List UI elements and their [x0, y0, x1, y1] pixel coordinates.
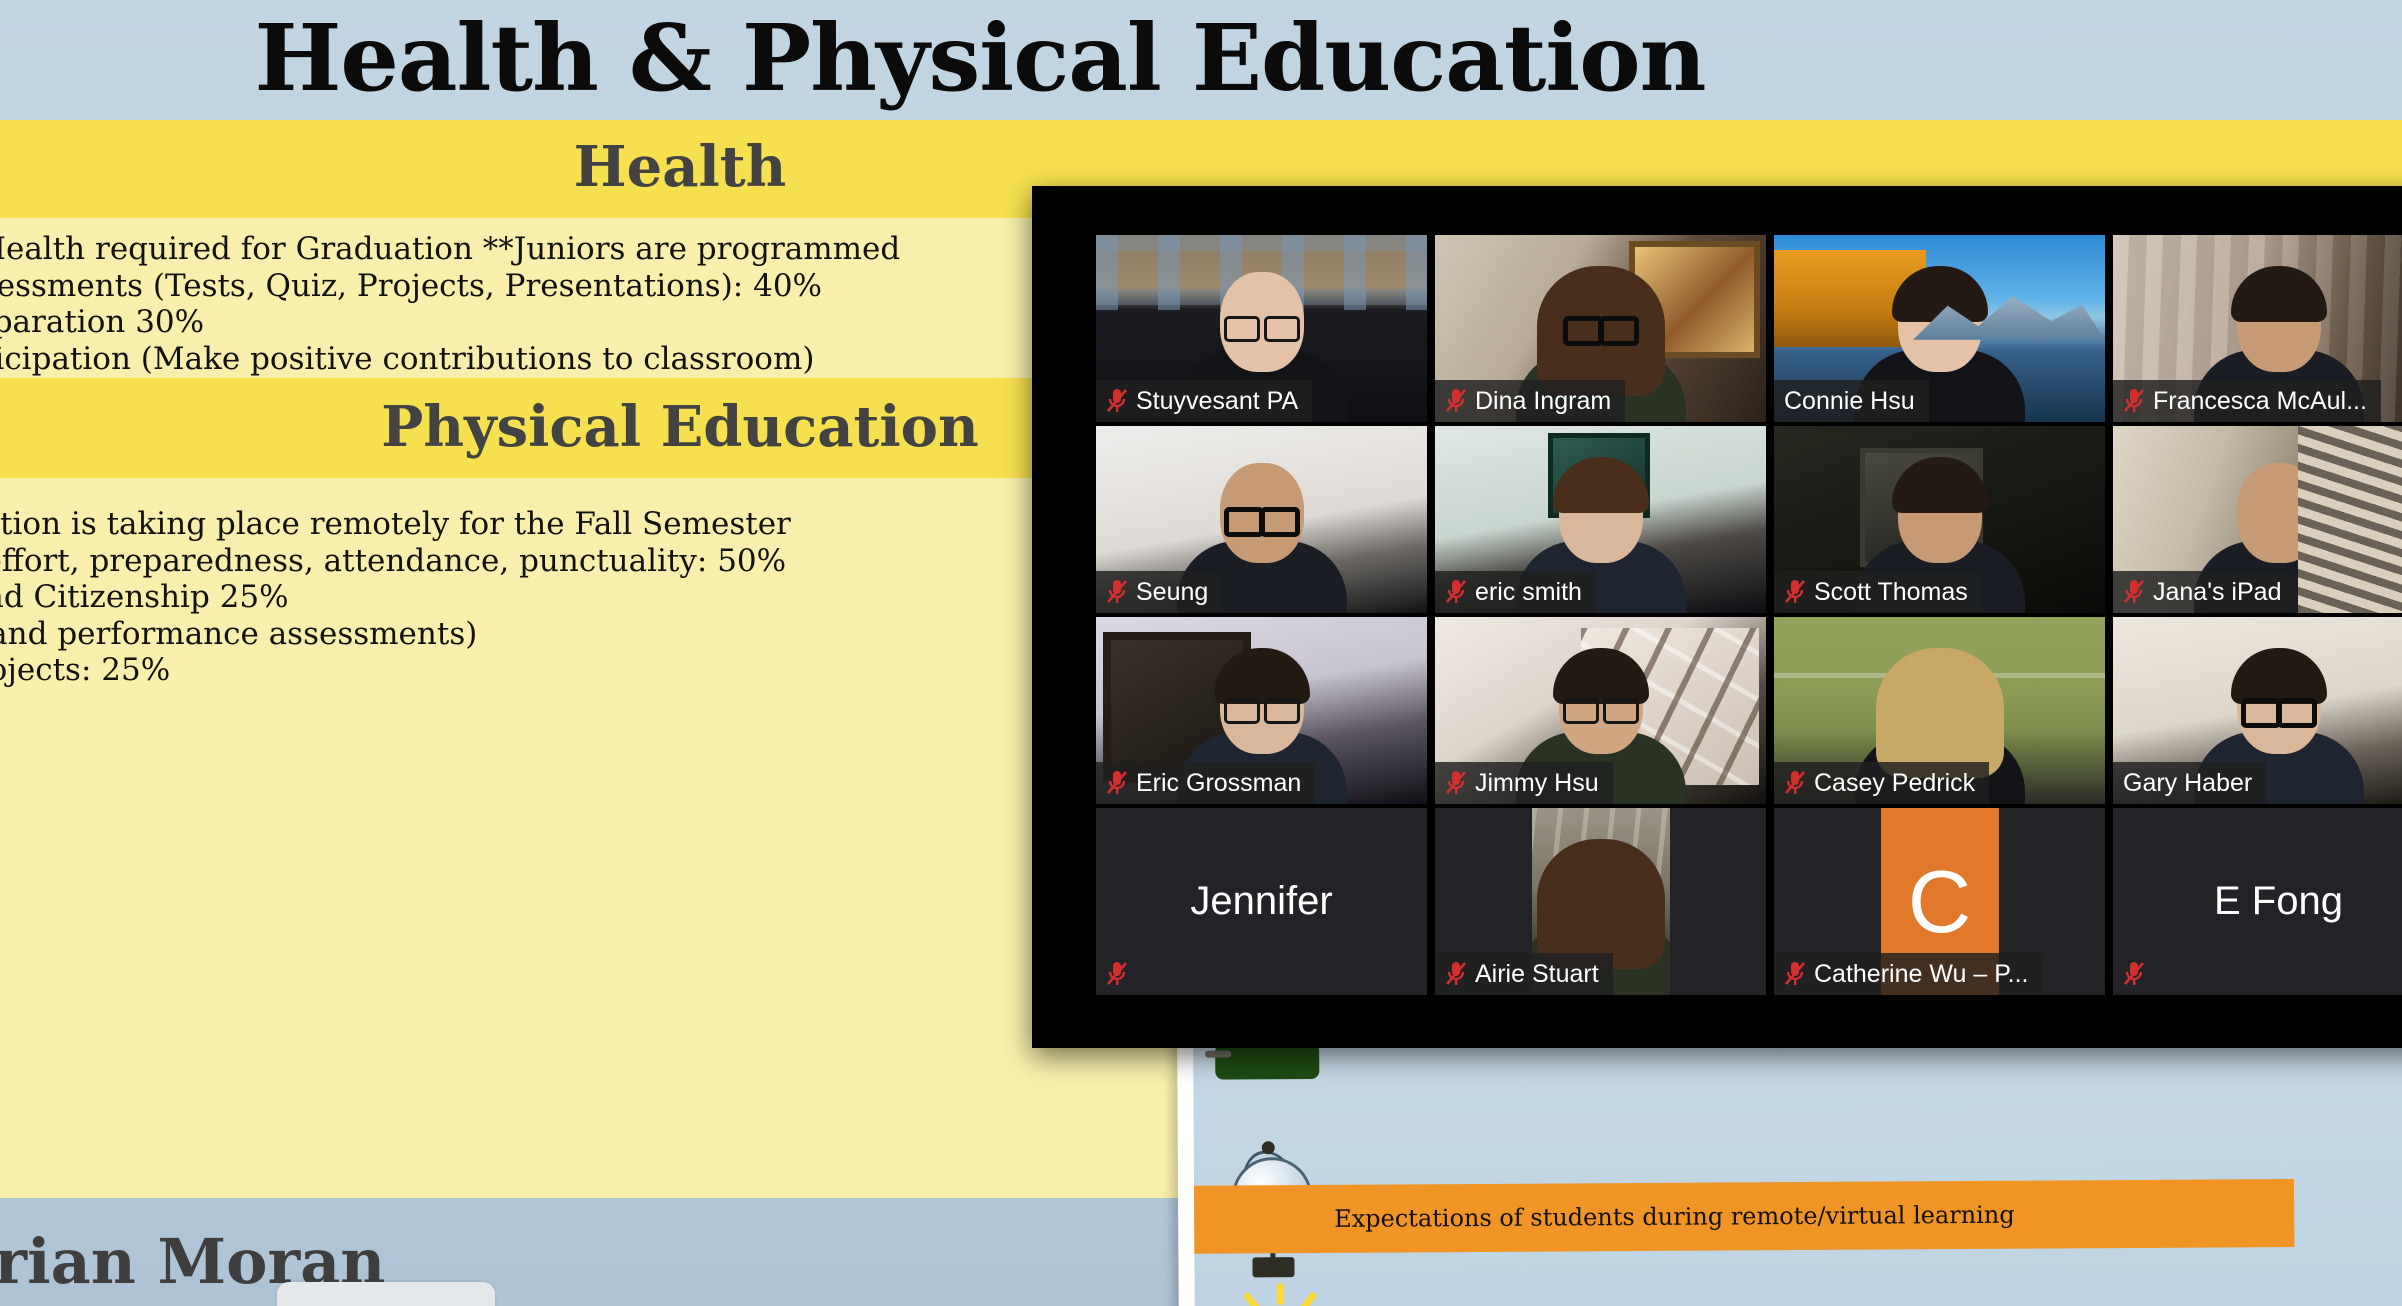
participant-name-label: Jana's iPad [2153, 578, 2281, 607]
list-item: Homework, projects: 25% [0, 652, 791, 689]
slide-bar-label: Expectations of students during remote/v… [1194, 1201, 2015, 1234]
participant-name-bar: eric smith [1435, 571, 1596, 613]
participant-tile[interactable]: E Fong [2113, 808, 2402, 995]
glasses-icon [1224, 698, 1300, 718]
participant-name-label: Jimmy Hsu [1475, 769, 1599, 798]
participant-grid: Stuyvesant PADina IngramConnie HsuFrance… [1096, 235, 2402, 999]
participant-tile[interactable]: Jana's iPad [2113, 426, 2402, 613]
glasses-icon [1563, 698, 1639, 718]
participant-tile[interactable]: Stuyvesant PA [1096, 235, 1427, 422]
participant-name-label: Gary Haber [2123, 769, 2252, 798]
participant-name-bar: Scott Thomas [1774, 571, 1982, 613]
zoom-gallery-window[interactable]: Stuyvesant PADina IngramConnie HsuFrance… [1032, 186, 2402, 1048]
participant-name-label: Seung [1136, 578, 1208, 607]
microphone-muted-icon [1106, 387, 1128, 415]
participant-tile[interactable]: Seung [1096, 426, 1427, 613]
participant-name-label: eric smith [1475, 578, 1582, 607]
participant-name-bar: Stuyvesant PA [1096, 380, 1312, 422]
participant-tile[interactable]: Francesca McAul... [2113, 235, 2402, 422]
participant-tile[interactable]: Eric Grossman [1096, 617, 1427, 804]
microphone-muted-icon [1106, 578, 1128, 606]
participant-tile[interactable]: eric smith [1435, 426, 1766, 613]
list-item: Physical Education is taking place remot… [0, 506, 791, 543]
participant-tile[interactable]: Scott Thomas [1774, 426, 2105, 613]
microphone-muted-icon [1784, 578, 1806, 606]
participant-name-label: Connie Hsu [1784, 387, 1915, 416]
list-item: Classwork/Participation (Make positive c… [0, 341, 900, 378]
microphone-muted-icon [1445, 960, 1467, 988]
participant-display-name: Jennifer [1096, 808, 1427, 995]
participant-tile[interactable]: Dina Ingram [1435, 235, 1766, 422]
green-tab-icon [1215, 1043, 1319, 1080]
page-title: Health & Physical Education [0, 10, 1960, 107]
list-item: Cooperation and Citizenship 25% [0, 579, 791, 616]
participant-name-bar [1096, 953, 1142, 995]
list-item: Tests (written and performance assessmen… [0, 616, 791, 653]
pe-bullet-list: Physical Education is taking place remot… [0, 506, 791, 689]
participant-tile[interactable]: Jimmy Hsu [1435, 617, 1766, 804]
participant-name-bar: Dina Ingram [1435, 380, 1625, 422]
slide-bar-expectations: Expectations of students during remote/v… [1194, 1179, 2294, 1254]
microphone-muted-icon [1445, 387, 1467, 415]
participant-name-bar: Francesca McAul... [2113, 380, 2381, 422]
list-item: Summative Assessments (Tests, Quiz, Proj… [0, 268, 900, 305]
participant-name-label: Eric Grossman [1136, 769, 1301, 798]
microphone-muted-icon [1784, 769, 1806, 797]
microphone-muted-icon [1106, 960, 1128, 988]
microphone-muted-icon [1784, 960, 1806, 988]
participant-name-label: Stuyvesant PA [1136, 387, 1298, 416]
participant-tile[interactable]: Airie Stuart [1435, 808, 1766, 995]
zoom-window-footer [1032, 1000, 2402, 1048]
microphone-muted-icon [1445, 769, 1467, 797]
list-item: 1 semester of Health required for Gradua… [0, 231, 900, 268]
list-item: Homework/Preparation 30% [0, 304, 900, 341]
microphone-muted-icon [2123, 387, 2145, 415]
glasses-icon [2241, 698, 2317, 718]
participant-name-bar: Airie Stuart [1435, 953, 1613, 995]
participant-name-label: Dina Ingram [1475, 387, 1611, 416]
screen-share-tooltip[interactable] [277, 1282, 495, 1306]
participant-name-label: Airie Stuart [1475, 960, 1599, 989]
secondary-slide: Expectations of students during remote/v… [1177, 1032, 2402, 1306]
screen: Health & Physical Education Health 1 sem… [0, 0, 2402, 1306]
participant-tile[interactable]: Casey Pedrick [1774, 617, 2105, 804]
participant-name-bar [2113, 953, 2159, 995]
list-item: Participation, effort, preparedness, att… [0, 543, 791, 580]
participant-tile[interactable]: Jennifer [1096, 808, 1427, 995]
microphone-muted-icon [2123, 960, 2145, 988]
participant-name-bar: Catherine Wu – P... [1774, 953, 2042, 995]
lightbulb-icon [1223, 1283, 1334, 1306]
participant-name-bar: Eric Grossman [1096, 762, 1315, 804]
participant-name-bar: Seung [1096, 571, 1222, 613]
participant-tile[interactable]: Gary Haber [2113, 617, 2402, 804]
glasses-icon [1563, 316, 1639, 336]
participant-name-label: Casey Pedrick [1814, 769, 1975, 798]
participant-name-bar: Connie Hsu [1774, 380, 1929, 422]
health-bullet-list: 1 semester of Health required for Gradua… [0, 231, 900, 377]
participant-name-bar: Casey Pedrick [1774, 762, 1989, 804]
participant-name-label: Scott Thomas [1814, 578, 1968, 607]
participant-name-bar: Gary Haber [2113, 762, 2266, 804]
microphone-muted-icon [1445, 578, 1467, 606]
glasses-icon [1224, 507, 1300, 527]
participant-name-bar: Jimmy Hsu [1435, 762, 1613, 804]
participant-name-label: Catherine Wu – P... [1814, 960, 2028, 989]
participant-tile[interactable]: Connie Hsu [1774, 235, 2105, 422]
glasses-icon [1224, 316, 1300, 336]
participant-name-label: Francesca McAul... [2153, 387, 2367, 416]
microphone-muted-icon [1106, 769, 1128, 797]
participant-tile[interactable]: CCatherine Wu – P... [1774, 808, 2105, 995]
microphone-muted-icon [2123, 578, 2145, 606]
participant-name-bar: Jana's iPad [2113, 571, 2295, 613]
